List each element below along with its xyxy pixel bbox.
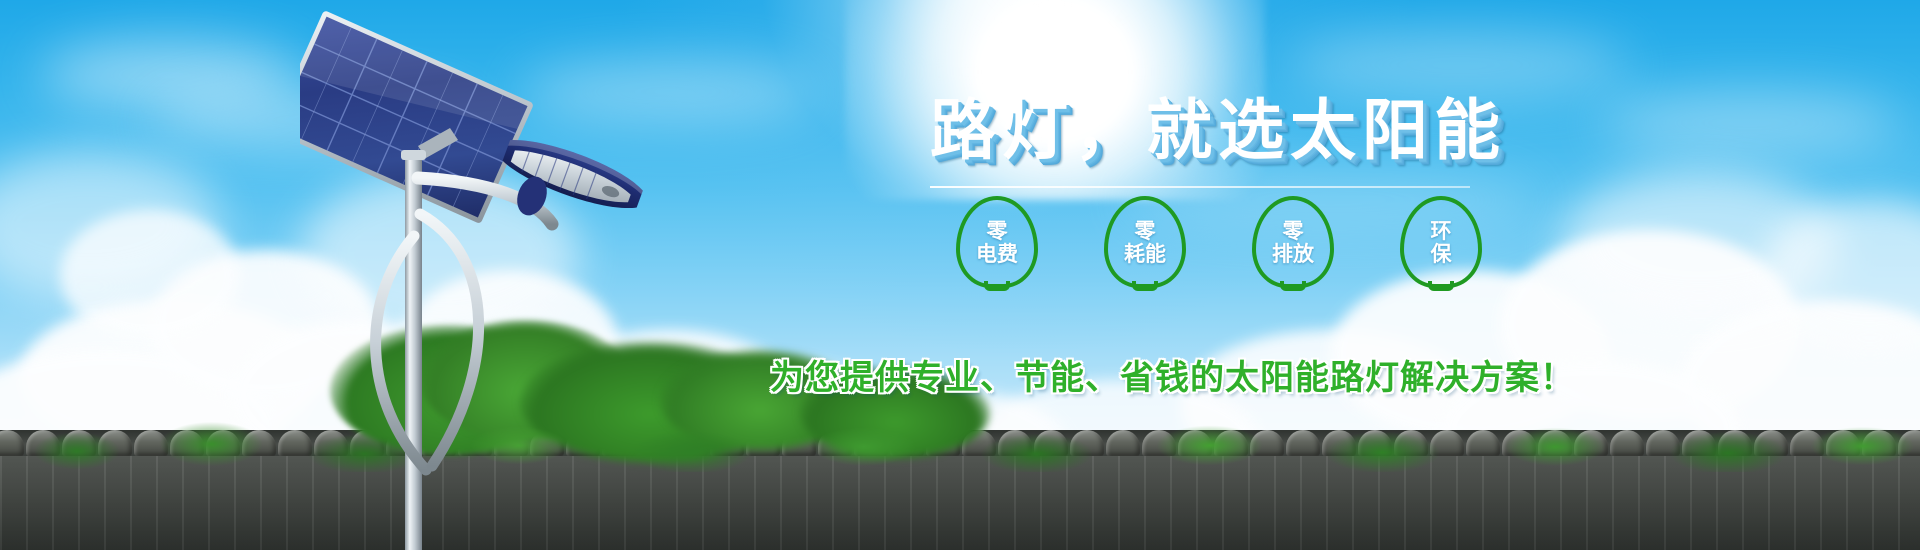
badge-prefix: 环 (1431, 219, 1452, 243)
sun-ray-icon (1033, 0, 1175, 10)
sun-ray-icon (917, 0, 1035, 11)
sun-ray-icon (1033, 0, 1073, 10)
roof-tile (746, 430, 780, 456)
roof-tile (890, 430, 924, 456)
cloud-wisp (1600, 90, 1900, 156)
badge-label: 电费 (976, 243, 1018, 266)
roof-tile (530, 430, 564, 456)
badge-prefix: 零 (976, 219, 1018, 243)
banner-stage: 路灯，就选太阳能 零电费零耗能零排放环保 为您提供专业、节能、省钱的太阳能路灯解… (0, 0, 1920, 550)
sun-ray-icon (991, 0, 1035, 10)
roof-tile (1790, 430, 1824, 456)
cloud-wisp (1120, 170, 1540, 230)
roof-tile (782, 430, 816, 456)
roof-tile (1394, 430, 1428, 456)
roof-tile (1178, 430, 1212, 456)
badge-prefix: 零 (1124, 219, 1166, 243)
roof-tile (1466, 430, 1500, 456)
roof-tile (350, 430, 384, 456)
roof-tile (998, 430, 1032, 456)
roof-tile (1430, 430, 1464, 456)
roof-tile (1718, 430, 1752, 456)
roof-tile (638, 430, 672, 456)
panel-bracket (418, 128, 458, 158)
roof-tile (134, 430, 168, 456)
roof-tile (242, 430, 276, 456)
roof-tile (26, 430, 60, 456)
cloud-wisp (520, 60, 820, 124)
roof-tile (314, 430, 348, 456)
roof-tile (494, 430, 528, 456)
roof-tile (818, 430, 852, 456)
bulb-outline-icon (1104, 196, 1186, 288)
sun-ray-icon (896, 0, 1035, 11)
roof-tile (710, 430, 744, 456)
roof-tile (458, 430, 492, 456)
badge-prefix: 零 (1272, 219, 1314, 243)
roof-tile (854, 430, 888, 456)
bulb-outline-icon (956, 196, 1038, 288)
roof-tile (278, 430, 312, 456)
wall-texture (0, 456, 1920, 550)
roof-tile (1142, 430, 1176, 456)
cloud-wisp (40, 40, 300, 110)
roof-tile (566, 430, 600, 456)
badge-label: 保 (1431, 243, 1452, 266)
feature-badge: 零耗能 (1104, 196, 1186, 288)
feature-badge: 零排放 (1252, 196, 1334, 288)
sun-ray-icon (1033, 0, 1126, 10)
cloud-cumulus (300, 170, 580, 340)
bulb-outline-icon (1252, 196, 1334, 288)
roof-tile (1106, 430, 1140, 456)
roof-tile (1538, 430, 1572, 456)
roof-tile (386, 430, 420, 456)
roof-tile (1358, 430, 1392, 456)
roof-tile (1322, 430, 1356, 456)
feature-badge: 零电费 (956, 196, 1038, 288)
feature-badge-list: 零电费零耗能零排放环保 (956, 196, 1476, 288)
roof-tile (1646, 430, 1680, 456)
sun-glow-icon (845, 0, 1265, 200)
roof-tile (170, 430, 204, 456)
roof-tile (1754, 430, 1788, 456)
roof-tile (1574, 430, 1608, 456)
cloud-wisp (1290, 30, 1630, 100)
badge-label: 排放 (1272, 243, 1314, 266)
roof-tile (1286, 430, 1320, 456)
roof-tile (98, 430, 132, 456)
roof-tile (1610, 430, 1644, 456)
roof-tile (602, 430, 636, 456)
page-title: 路灯，就选太阳能 (930, 96, 1506, 166)
roof-tile (926, 430, 960, 456)
roof-tile (62, 430, 96, 456)
roof-tile (1682, 430, 1716, 456)
roof-tile (1070, 430, 1104, 456)
roof-tile (1214, 430, 1248, 456)
roof-tile (1862, 430, 1896, 456)
roof-tile (206, 430, 240, 456)
title-divider (930, 186, 1470, 188)
roof-tile (422, 430, 456, 456)
cloud-wisp (150, 90, 470, 150)
roof-tile (674, 430, 708, 456)
badge-label: 耗能 (1124, 243, 1166, 266)
roof-tile (1250, 430, 1284, 456)
roof-tile (1034, 430, 1068, 456)
roof-tile (1826, 430, 1860, 456)
roof-tile (1502, 430, 1536, 456)
roof-tile (962, 430, 996, 456)
